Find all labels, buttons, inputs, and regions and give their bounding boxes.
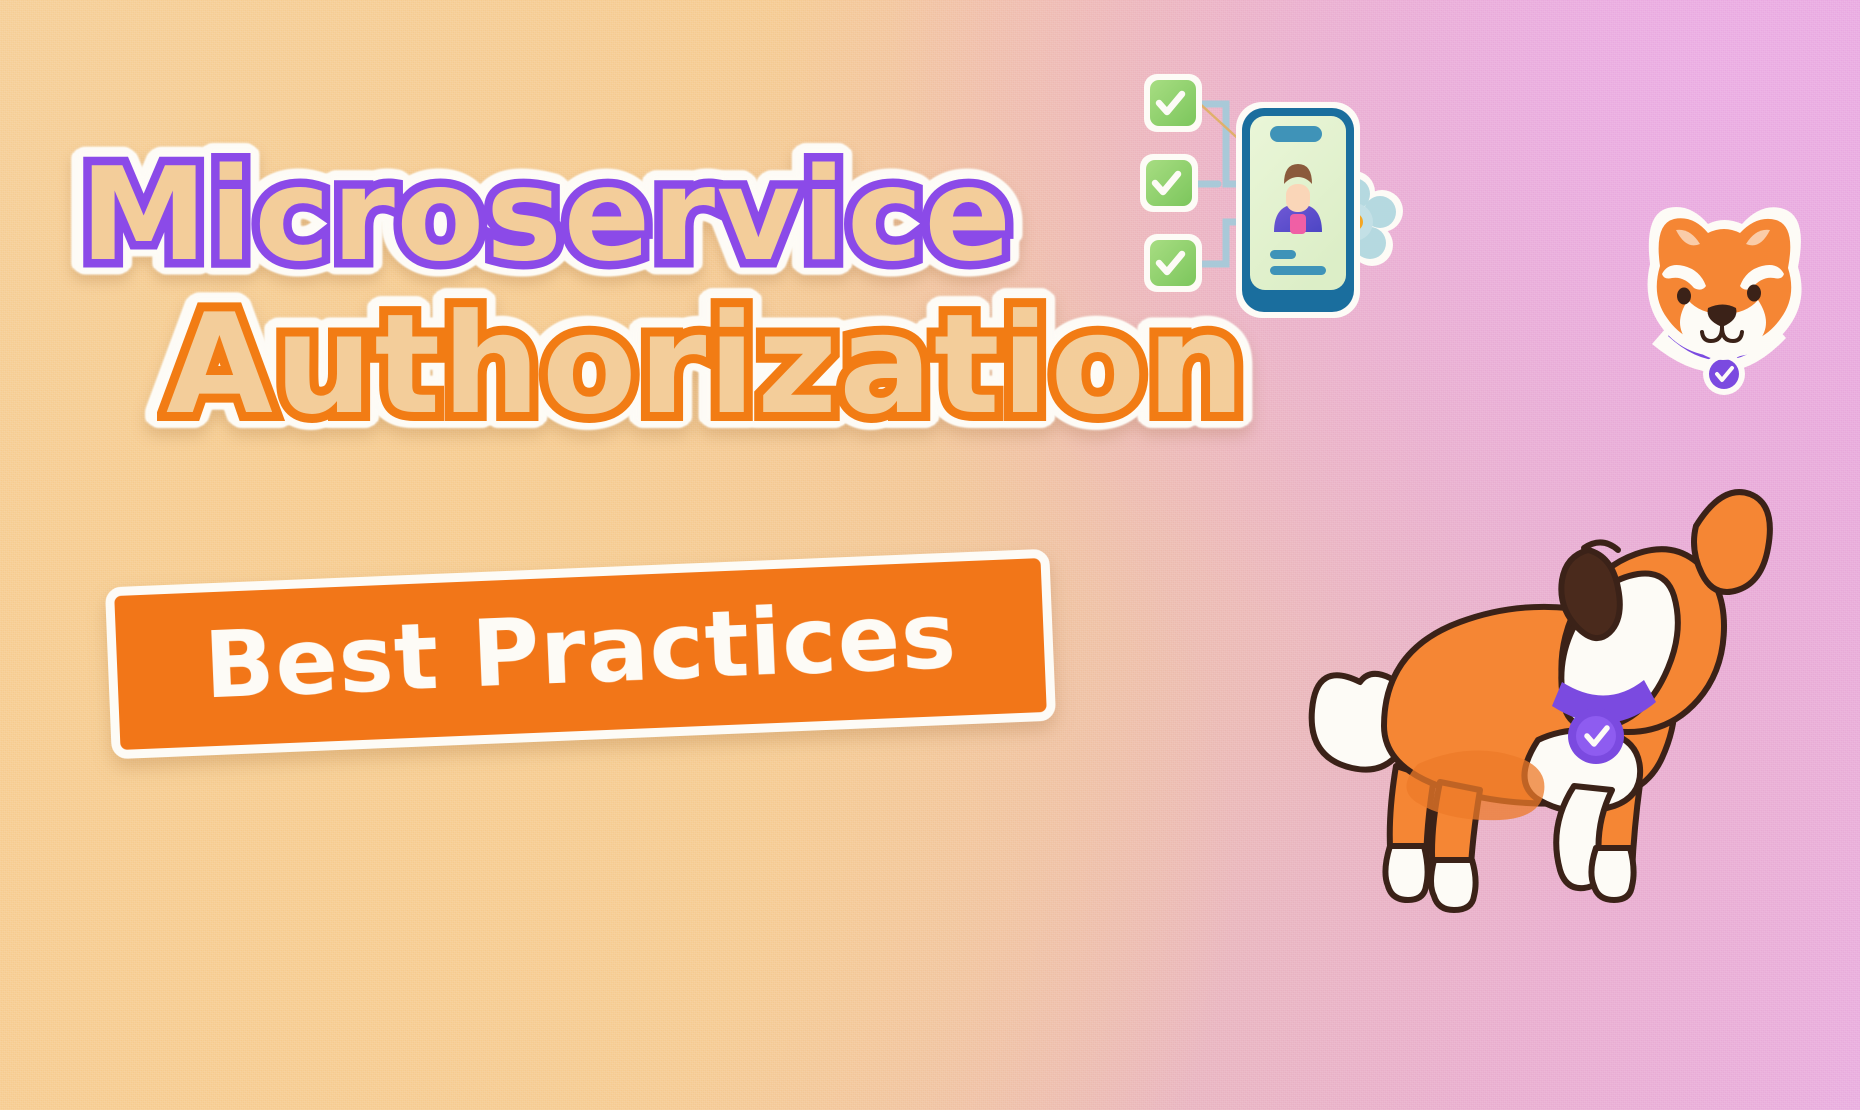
checked-task-2 [1140,154,1198,212]
smartphone-profile-card [1236,102,1360,318]
phone-speaker [1270,126,1322,142]
shiba-inu-head-sticker [1628,196,1818,401]
eye-left [1677,288,1691,305]
page-title: Microservice Authorization [74,152,1194,434]
dog-ear [1694,492,1770,592]
title-line-microservice: Microservice [80,152,1194,280]
howling-shiba-inu-illustration [1300,430,1820,930]
phone-text-line-1 [1270,250,1296,259]
dog-paw-far-front [1591,848,1633,900]
check-tag [1568,708,1624,764]
dog-paw-hind [1431,860,1476,910]
subtitle-banner-label: Best Practices [202,590,958,713]
avatar-pocket [1290,214,1306,234]
title-line-authorization: Authorization [166,296,1194,434]
thumbnail-canvas: Microservice Authorization Best Practice… [0,0,1860,1110]
checked-task-1 [1144,74,1202,132]
phone-text-line-2 [1270,266,1326,275]
eye-right [1747,285,1761,302]
dog-paw-far-hind [1385,846,1427,900]
checked-task-3 [1144,234,1202,292]
checklist-and-phone-illustration [1118,72,1418,352]
